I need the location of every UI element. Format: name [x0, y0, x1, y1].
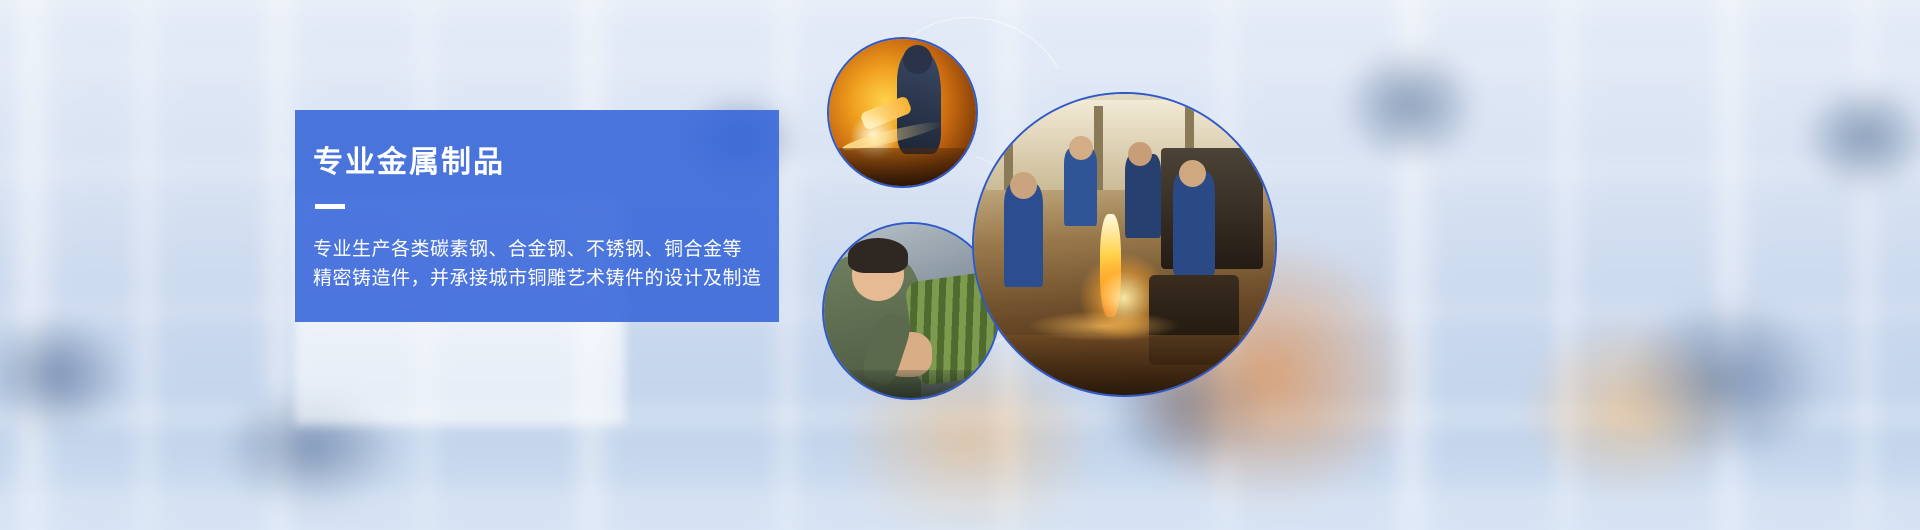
title-divider — [315, 204, 345, 209]
welding-sparks-photo — [827, 37, 978, 188]
page-title: 专业金属制品 — [313, 148, 779, 178]
hero-banner: 专业金属制品 专业生产各类碳素钢、合金钢、不锈钢、铜合金等 精密铸造件，并承接城… — [0, 0, 1920, 530]
description-text: 专业生产各类碳素钢、合金钢、不锈钢、铜合金等 精密铸造件，并承接城市铜雕艺术铸件… — [313, 235, 779, 294]
description-line-2: 精密铸造件，并承接城市铜雕艺术铸件的设计及制造 — [313, 264, 779, 293]
text-panel: 专业金属制品 专业生产各类碳素钢、合金钢、不锈钢、铜合金等 精密铸造件，并承接城… — [295, 110, 779, 322]
foundry-pouring-photo — [972, 92, 1277, 397]
description-line-1: 专业生产各类碳素钢、合金钢、不锈钢、铜合金等 — [313, 235, 779, 264]
